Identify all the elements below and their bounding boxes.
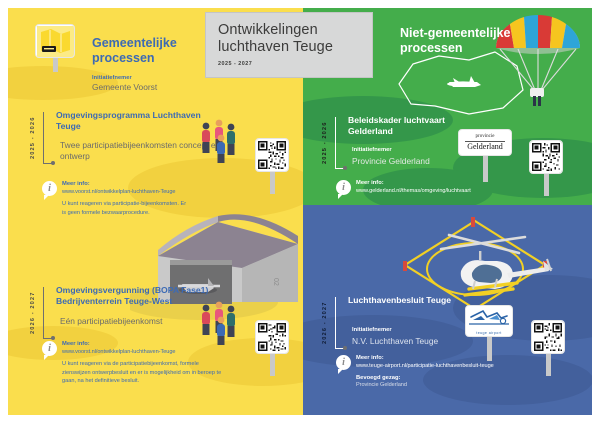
qr-sign-omgevingsprogramma[interactable] xyxy=(252,138,292,194)
timeline-bracket xyxy=(335,117,344,169)
info-label: Meer info: xyxy=(356,180,471,188)
green-initiator-label: Initiatiefnemer xyxy=(352,147,430,155)
info-block-omgevingsprogramma: i Meer info: www.voorst.nl/ontwikkelplan… xyxy=(42,181,242,217)
info-block-omgevingsvergunning: i Meer info: www.voorst.nl/ontwikkelplan… xyxy=(42,341,257,385)
left-panel-header: Gemeentelijke processen Initiatiefnemer … xyxy=(92,36,212,92)
sign-line2: Gelderland xyxy=(467,143,503,151)
info-body: U kunt reageren via de participatiebijee… xyxy=(62,360,227,385)
info-icon: i xyxy=(336,355,351,370)
timeline-title: Luchthavenbesluit Teuge xyxy=(348,295,478,306)
authority-value: Provincie Gelderland xyxy=(356,382,494,390)
info-block-beleidskader: i Meer info: www.gelderland.nl/themas/om… xyxy=(336,180,546,196)
info-url[interactable]: www.teuge-airport.nl/participatie-luchth… xyxy=(356,363,494,371)
teuge-airport-logo-icon xyxy=(467,308,511,330)
svg-text:02: 02 xyxy=(272,278,279,286)
info-block-luchthavenbesluit: i Meer info: www.teuge-airport.nl/partic… xyxy=(336,355,556,390)
info-url[interactable]: www.voorst.nl/ontwikkelplan-luchthaven-T… xyxy=(62,349,227,357)
info-url[interactable]: www.gelderland.nl/themas/omgeving/luchtv… xyxy=(356,188,471,196)
left-panel-title: Gemeentelijke processen xyxy=(92,36,212,66)
info-icon: i xyxy=(42,341,57,356)
left-initiator-value: Gemeente Voorst xyxy=(92,82,212,92)
poster-years: 2025 - 2027 xyxy=(218,61,372,67)
timeline-years: 2025 - 2026 xyxy=(30,110,36,166)
green-panel-title: Niet-gemeentelijke processen xyxy=(400,26,530,56)
qr-sign-beleidskader[interactable] xyxy=(526,140,566,196)
info-icon: i xyxy=(336,180,351,195)
green-panel-header: Niet-gemeentelijke processen xyxy=(400,26,530,56)
qr-code-icon[interactable] xyxy=(256,139,288,171)
qr-code-icon[interactable] xyxy=(532,321,564,353)
title-card: Ontwikkelingen luchthaven Teuge 2025 - 2… xyxy=(205,12,373,78)
timeline-years: 2026 - 2027 xyxy=(322,295,328,351)
qr-code-icon[interactable] xyxy=(530,141,562,173)
map-sign xyxy=(30,24,80,72)
left-initiator-label: Initiatiefnemer xyxy=(92,75,212,81)
info-url[interactable]: www.voorst.nl/ontwikkelplan-luchthaven-T… xyxy=(62,189,187,197)
sign-line1: provincie xyxy=(476,134,495,139)
poster-title: Ontwikkelingen luchthaven Teuge xyxy=(218,22,372,56)
sign-caption: teuge airport xyxy=(476,331,501,335)
timeline-bracket xyxy=(43,112,52,164)
timeline-years: 2025 - 2026 xyxy=(322,115,328,171)
blue-initiator-value: N.V. Luchthaven Teuge xyxy=(352,336,438,346)
info-label: Meer info: xyxy=(62,181,187,189)
green-initiator-value: Provincie Gelderland xyxy=(352,156,430,166)
infographic-poster: 02 Gemeentelijke processen Initiatiefnem… xyxy=(0,0,600,423)
timeline-title: Omgevingsprogramma Luchthaven Teuge xyxy=(56,110,216,131)
timeline-bracket xyxy=(43,287,52,339)
map-sign-icon xyxy=(37,26,74,57)
blue-initiator-label: Initiatiefnemer xyxy=(352,327,438,335)
qr-code-icon[interactable] xyxy=(256,321,288,353)
qr-sign-luchthavenbesluit[interactable] xyxy=(528,320,568,376)
teuge-airport-sign: teuge airport xyxy=(462,305,516,361)
people-group-illustration xyxy=(196,118,246,164)
info-body: U kunt reageren via participatie-bijeenk… xyxy=(62,200,187,217)
timeline-years: 2026 - 2027 xyxy=(30,285,36,341)
provincie-gelderland-sign: provincie Gelderland xyxy=(455,129,515,182)
info-icon: i xyxy=(42,181,57,196)
qr-sign-omgevingsvergunning[interactable] xyxy=(252,320,292,376)
people-group-illustration xyxy=(196,300,246,346)
timeline-bracket xyxy=(335,297,344,349)
authority-label: Bevoegd gezag: xyxy=(356,375,494,383)
